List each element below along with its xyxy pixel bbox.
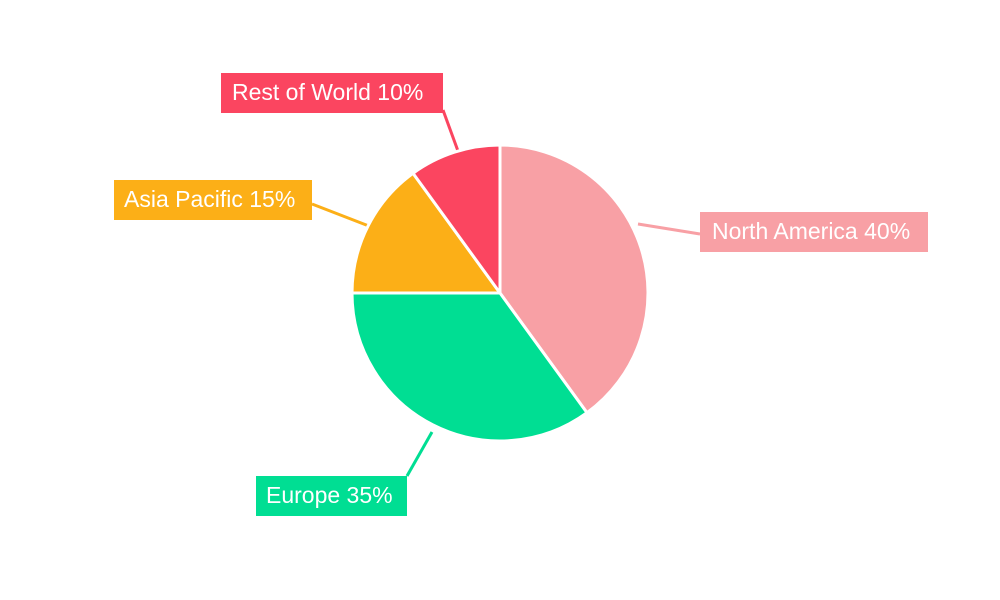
pie-chart-canvas: North America 40%Europe 35%Asia Pacific … (0, 0, 1000, 600)
data-label-text-north-america: North America 40% (712, 218, 910, 244)
data-label-asia-pacific[interactable]: Asia Pacific 15% (114, 180, 312, 220)
data-label-text-asia-pacific: Asia Pacific 15% (124, 186, 295, 212)
pie-chart-figure: North America 40%Europe 35%Asia Pacific … (0, 0, 1000, 600)
data-label-text-europe: Europe 35% (266, 482, 393, 508)
data-label-north-america[interactable]: North America 40% (700, 212, 928, 252)
data-label-text-rest-of-world: Rest of World 10% (232, 79, 423, 105)
data-label-rest-of-world[interactable]: Rest of World 10% (221, 73, 443, 113)
data-label-europe[interactable]: Europe 35% (256, 476, 407, 516)
pie-slice-group (352, 145, 648, 441)
